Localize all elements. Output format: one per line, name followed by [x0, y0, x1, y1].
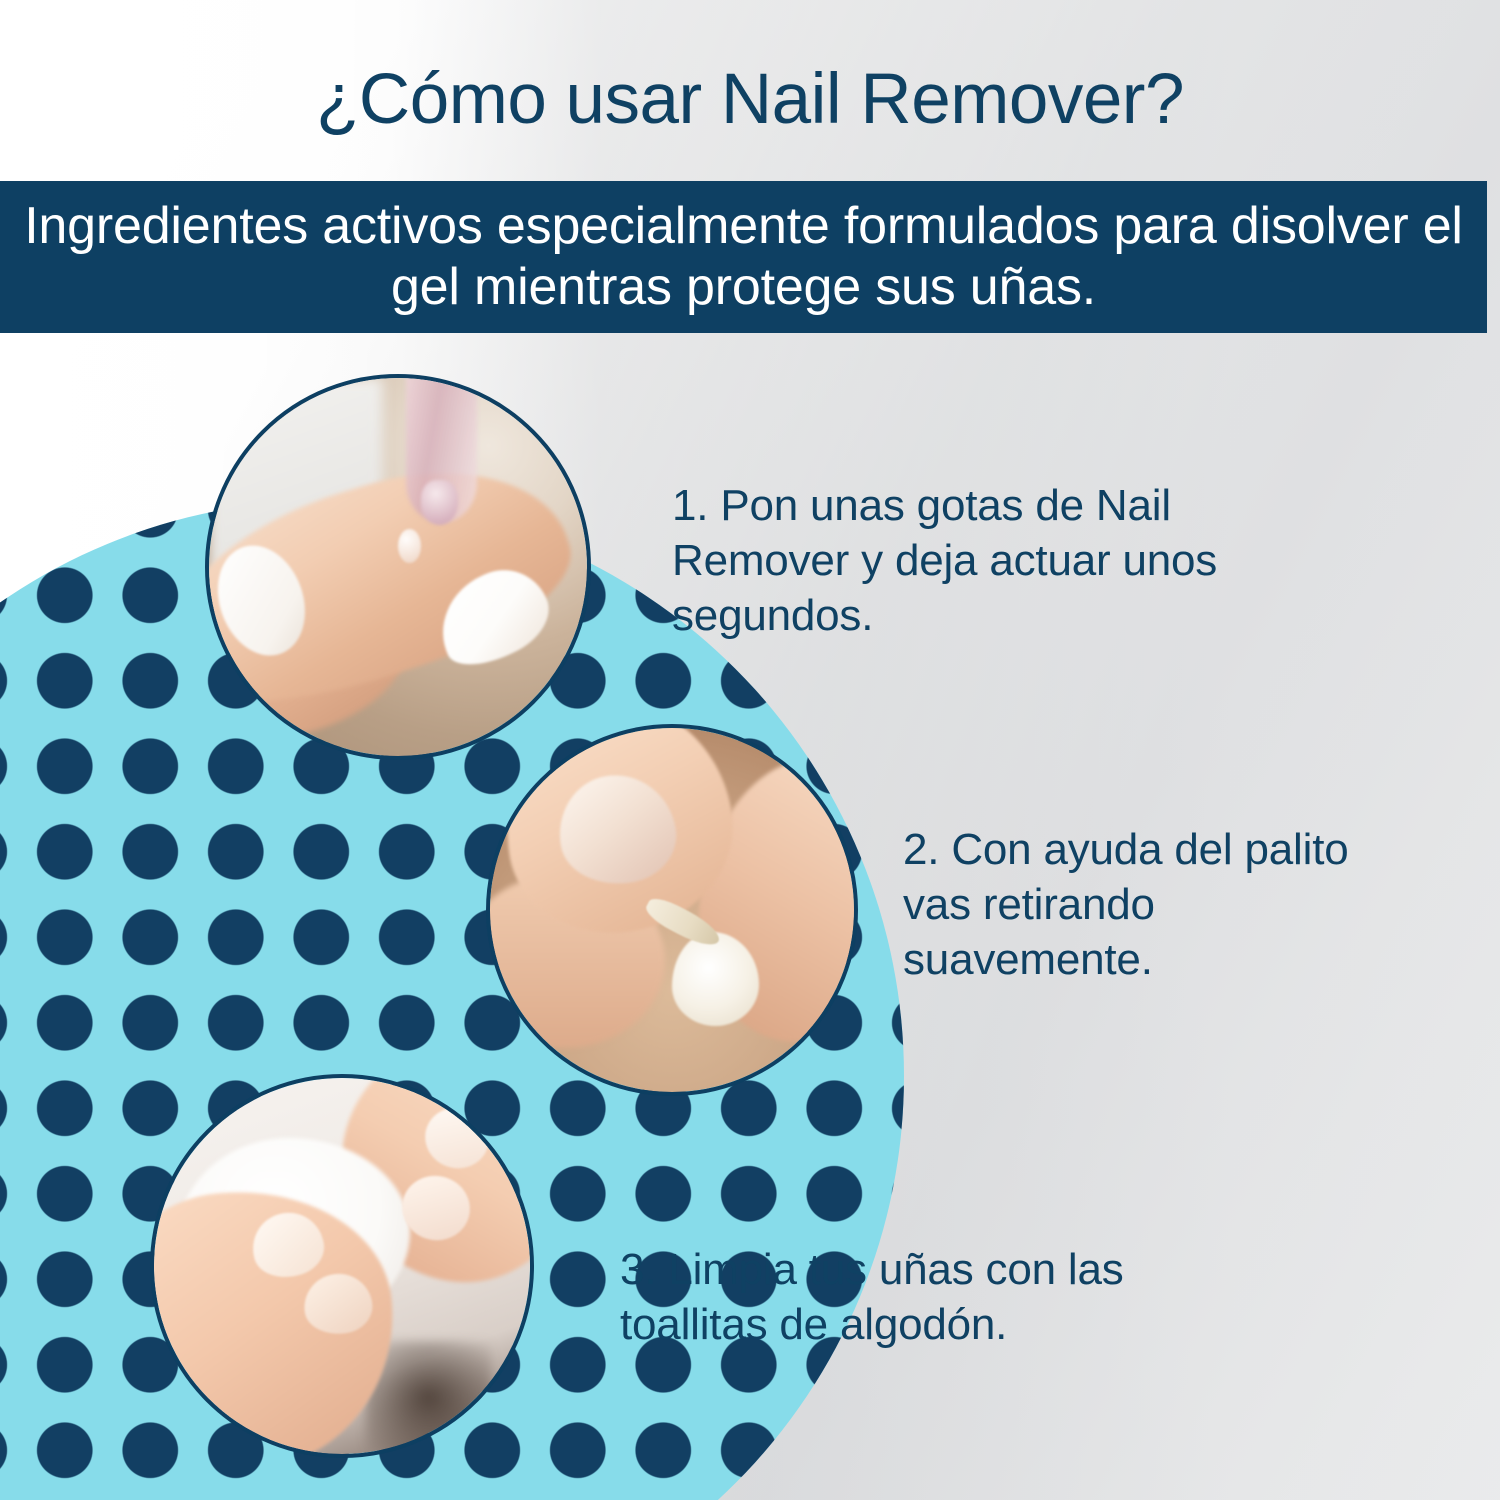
photo-2-image [490, 728, 854, 1092]
photo-1-liquid-drop [398, 529, 421, 563]
headline-banner: Ingredientes activos especialmente formu… [0, 181, 1487, 333]
dropper-applying-remover-photo [205, 374, 591, 760]
step-3-caption: 3. Limpia tus uñas con las toallitas de … [620, 1242, 1240, 1352]
page-title-container: ¿Cómo usar Nail Remover? [0, 58, 1500, 142]
photo-3-image [154, 1078, 530, 1454]
page-title: ¿Cómo usar Nail Remover? [316, 58, 1184, 142]
headline-banner-text: Ingredientes activos especialmente formu… [0, 196, 1487, 318]
cuticle-stick-removing-gel-photo [486, 724, 858, 1096]
cotton-pad-cleaning-nails-photo [150, 1074, 534, 1458]
step-1-caption: 1. Pon unas gotas de Nail Remover y deja… [672, 478, 1272, 643]
step-2-caption: 2. Con ayuda del palito vas retirando su… [903, 822, 1393, 987]
infographic-canvas: ¿Cómo usar Nail Remover? Ingredientes ac… [0, 0, 1500, 1500]
photo-1-image [209, 378, 587, 756]
